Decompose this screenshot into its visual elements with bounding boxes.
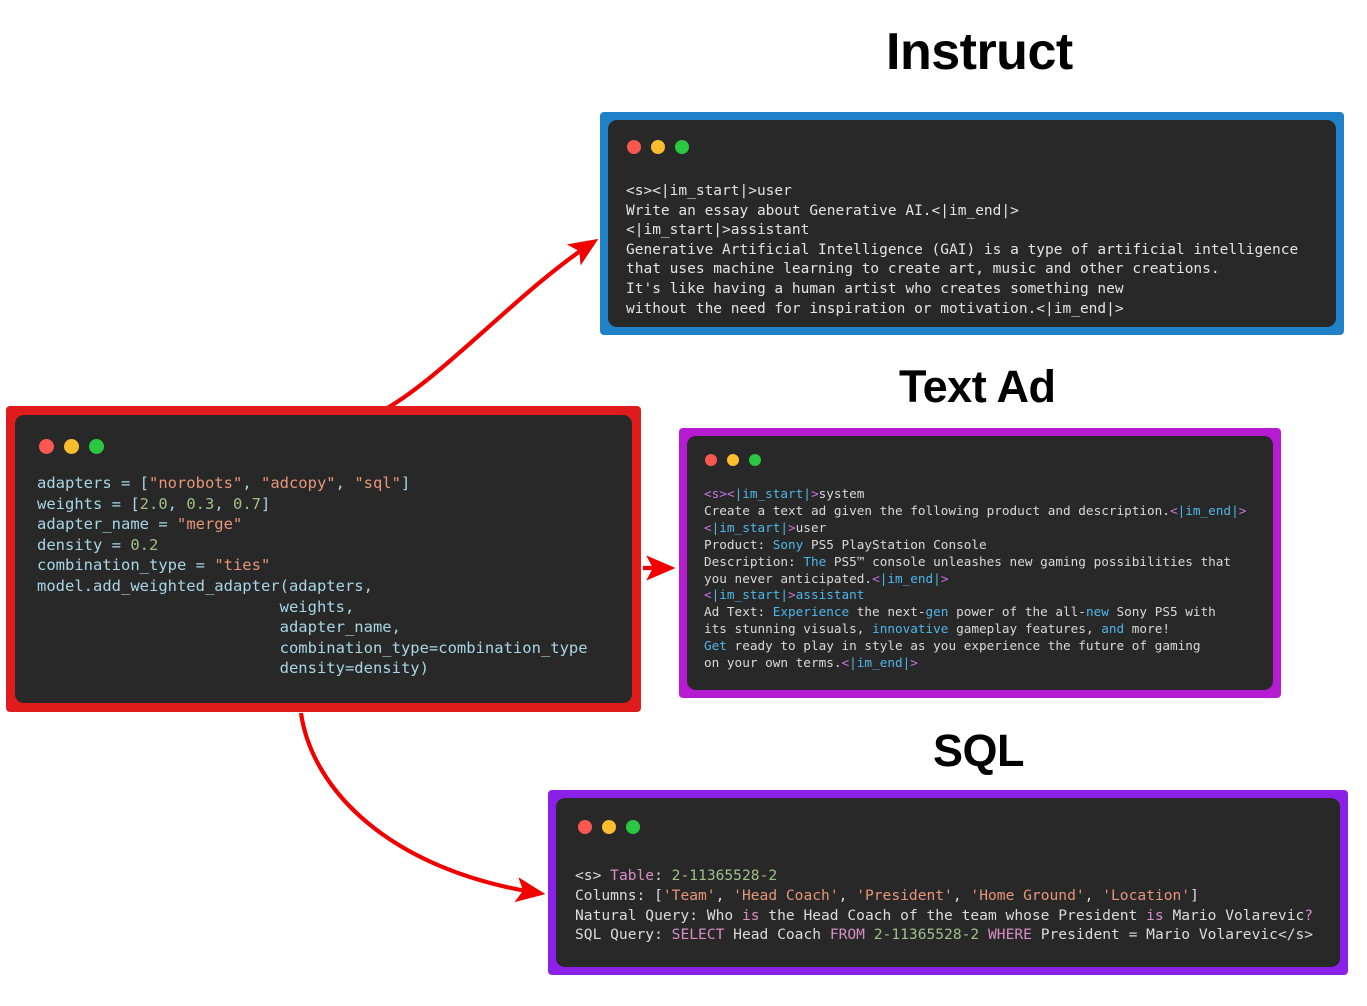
diagram-canvas: Instruct Text Ad SQL adapters = ["norobo… <box>0 0 1367 1006</box>
minimize-icon[interactable] <box>727 454 739 466</box>
arrow-merge-to-sql <box>301 713 538 893</box>
maximize-icon[interactable] <box>626 820 640 834</box>
instruct-text: <s><|im_start|>user Write an essay about… <box>626 182 1298 319</box>
instruct-panel: <s><|im_start|>user Write an essay about… <box>600 112 1344 335</box>
close-icon[interactable] <box>39 439 54 454</box>
heading-sql: SQL <box>933 728 1024 773</box>
minimize-icon[interactable] <box>651 140 665 154</box>
maximize-icon[interactable] <box>749 454 761 466</box>
sql-panel-body: <s> Table: 2-11365528-2 Columns: ['Team'… <box>556 798 1340 967</box>
text-ad-panel: <s><|im_start|>system Create a text ad g… <box>679 428 1281 698</box>
text-ad-panel-body: <s><|im_start|>system Create a text ad g… <box>687 436 1273 690</box>
minimize-icon[interactable] <box>64 439 79 454</box>
merge-panel-body: adapters = ["norobots", "adcopy", "sql"]… <box>15 415 632 703</box>
minimize-icon[interactable] <box>602 820 616 834</box>
close-icon[interactable] <box>705 454 717 466</box>
text-ad-text: <s><|im_start|>system Create a text ad g… <box>704 486 1246 672</box>
maximize-icon[interactable] <box>89 439 104 454</box>
window-controls <box>578 820 640 834</box>
instruct-panel-body: <s><|im_start|>user Write an essay about… <box>608 120 1336 327</box>
close-icon[interactable] <box>578 820 592 834</box>
close-icon[interactable] <box>627 140 641 154</box>
heading-text-ad: Text Ad <box>899 364 1056 409</box>
window-controls <box>39 439 104 454</box>
arrow-merge-to-instruct <box>382 243 592 411</box>
window-controls <box>705 454 761 466</box>
window-controls <box>627 140 689 154</box>
merge-code-panel: adapters = ["norobots", "adcopy", "sql"]… <box>6 406 641 712</box>
merge-code-text: adapters = ["norobots", "adcopy", "sql"]… <box>37 473 588 679</box>
sql-panel: <s> Table: 2-11365528-2 Columns: ['Team'… <box>548 790 1348 975</box>
heading-instruct: Instruct <box>886 26 1073 78</box>
maximize-icon[interactable] <box>675 140 689 154</box>
sql-text: <s> Table: 2-11365528-2 Columns: ['Team'… <box>575 866 1313 945</box>
